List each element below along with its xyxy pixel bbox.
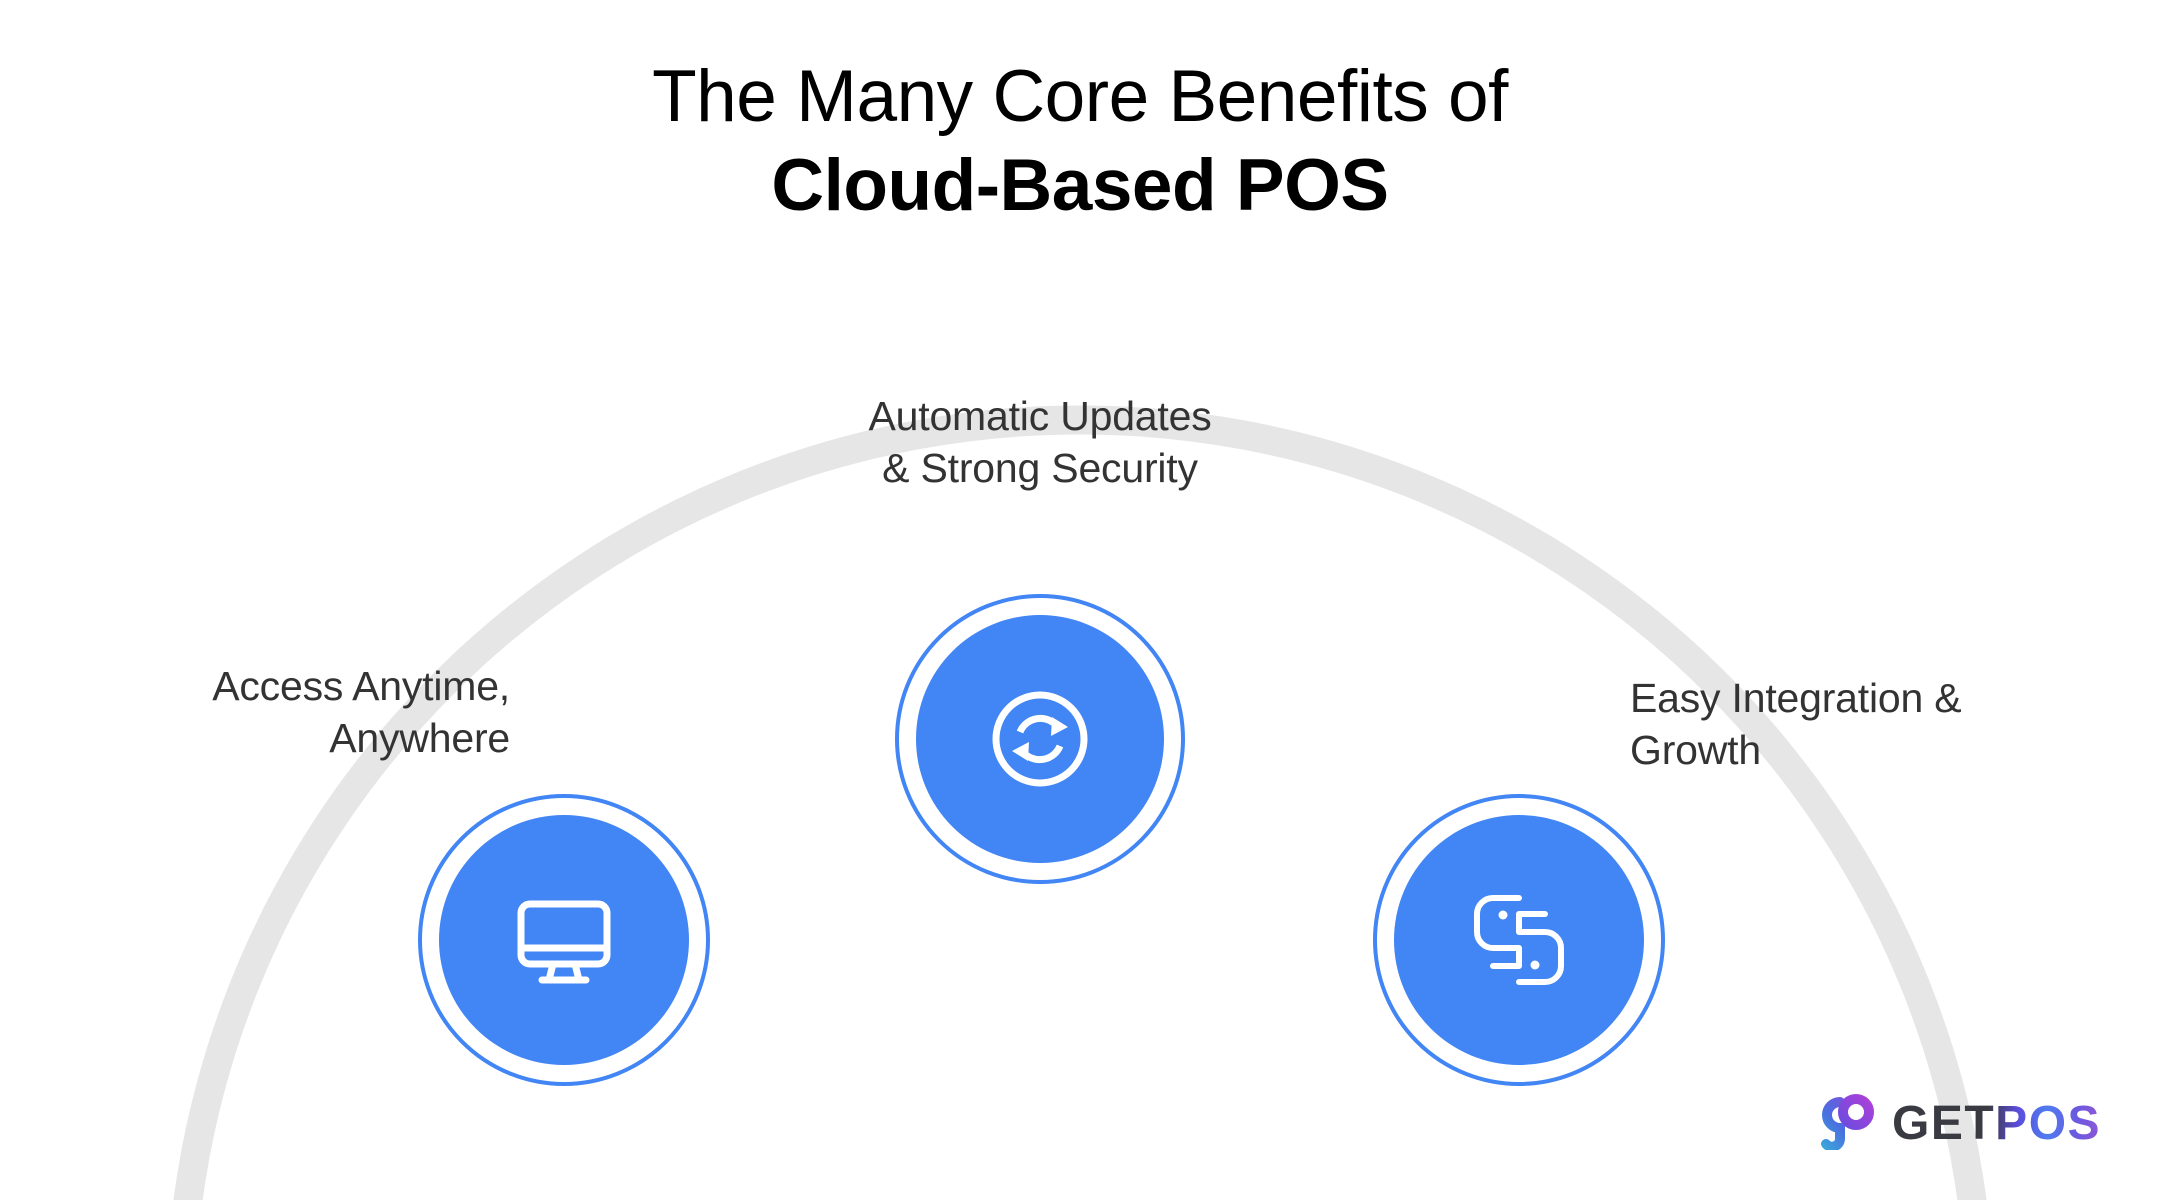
node-icon-disc <box>439 815 689 1065</box>
benefit-label-automatic-updates: Automatic Updates & Strong Security <box>690 390 1390 495</box>
benefit-node-access-anytime[interactable] <box>418 794 710 1086</box>
benefit-node-easy-integration[interactable] <box>1373 794 1665 1086</box>
page-title: The Many Core Benefits of Cloud-Based PO… <box>0 52 2160 230</box>
gp-monogram-icon <box>1810 1092 1876 1155</box>
benefit-label-easy-integration: Easy Integration & Growth <box>1630 672 2090 777</box>
desktop-monitor-icon <box>504 880 624 1000</box>
sync-refresh-circle-icon <box>980 679 1100 799</box>
interlocking-integration-icon <box>1459 880 1579 1000</box>
benefit-node-automatic-updates[interactable] <box>895 594 1185 884</box>
node-icon-disc <box>916 615 1164 863</box>
page-title-line-1: The Many Core Benefits of <box>0 52 2160 141</box>
node-icon-disc <box>1394 815 1644 1065</box>
infographic-canvas: The Many Core Benefits of Cloud-Based PO… <box>0 0 2160 1200</box>
benefit-label-access-anytime: Access Anytime, Anywhere <box>60 660 510 765</box>
page-title-line-2: Cloud-Based POS <box>0 141 2160 230</box>
getpos-logo[interactable]: GETPOS <box>1810 1092 2101 1155</box>
getpos-wordmark: GETPOS <box>1892 1100 2101 1148</box>
